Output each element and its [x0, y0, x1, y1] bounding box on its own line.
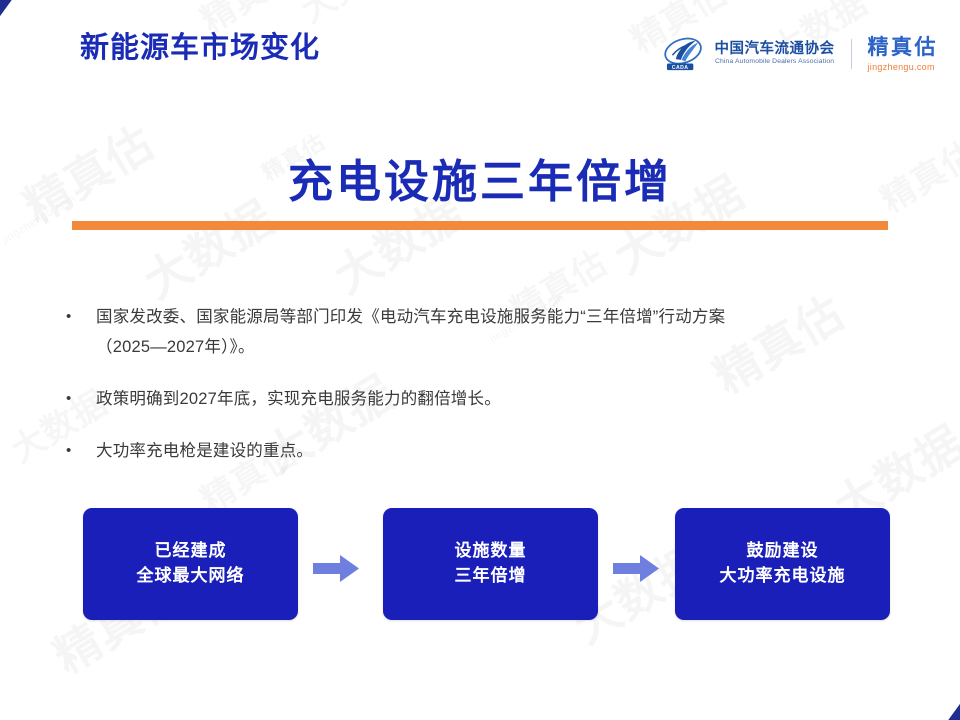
- cada-logo-text: 中国汽车流通协会 China Automobile Dealers Associ…: [715, 42, 835, 66]
- page-title: 充电设施三年倍增: [0, 145, 960, 210]
- title-underline-rule: [72, 221, 888, 230]
- list-item: • 政策明确到2027年底，实现充电服务能力的翻倍增长。: [60, 384, 910, 414]
- logo-cada: CADA 中国汽车流通协会 China Automobile Dealers A…: [664, 37, 835, 71]
- bullet-line: 大功率充电枪是建设的重点。: [96, 442, 313, 460]
- process-box-label: 已经建成 全球最大网络: [137, 539, 245, 588]
- logo-divider: [851, 39, 852, 69]
- slide-header: 新能源车市场变化 CADA 中国汽车流通协会 China Automobile: [0, 0, 960, 105]
- process-box-line1: 已经建成: [155, 541, 227, 560]
- bullet-text: 大功率充电枪是建设的重点。: [96, 436, 313, 466]
- process-box-line2: 三年倍增: [455, 566, 527, 585]
- bullet-text: 国家发改委、国家能源局等部门印发《电动汽车充电设施服务能力“三年倍增”行动方案 …: [96, 302, 725, 362]
- header-title: 新能源车市场变化: [80, 33, 320, 65]
- logo-group: CADA 中国汽车流通协会 China Automobile Dealers A…: [664, 32, 939, 76]
- logo-jingzhengu: 精真估 jingzhengu.com: [868, 37, 939, 72]
- process-box-label: 设施数量 三年倍增: [455, 539, 527, 588]
- process-diagram: 已经建成 全球最大网络 设施数量 三年倍增 鼓励建设 大功率充电设施: [0, 508, 960, 620]
- process-box-1: 已经建成 全球最大网络: [83, 508, 298, 620]
- process-box-line1: 鼓励建设: [747, 541, 819, 560]
- process-box-3: 鼓励建设 大功率充电设施: [675, 508, 890, 620]
- bullet-list: • 国家发改委、国家能源局等部门印发《电动汽车充电设施服务能力“三年倍增”行动方…: [60, 302, 910, 488]
- bullet-line: （2025—2027年）》。: [96, 332, 725, 362]
- list-item: • 国家发改委、国家能源局等部门印发《电动汽车充电设施服务能力“三年倍增”行动方…: [60, 302, 910, 362]
- bullet-marker: •: [60, 436, 96, 466]
- cada-name-en: China Automobile Dealers Association: [715, 59, 837, 66]
- cada-swoosh-icon: CADA: [664, 37, 708, 71]
- jingzhengu-url: jingzhengu.com: [868, 63, 939, 72]
- list-item: • 大功率充电枪是建设的重点。: [60, 436, 910, 466]
- bullet-line: 政策明确到2027年底，实现充电服务能力的翻倍增长。: [96, 390, 501, 408]
- slide-root: 精真估 jingzhengu.com 大数据 精真估 大数据 精真估 大数据 精…: [0, 0, 960, 720]
- svg-text:CADA: CADA: [671, 65, 688, 71]
- bullet-text: 政策明确到2027年底，实现充电服务能力的翻倍增长。: [96, 384, 501, 414]
- arrow-right-icon: [313, 555, 359, 582]
- process-box-line1: 设施数量: [455, 541, 527, 560]
- bullet-line: 国家发改委、国家能源局等部门印发《电动汽车充电设施服务能力“三年倍增”行动方案: [96, 308, 725, 326]
- process-box-2: 设施数量 三年倍增: [383, 508, 598, 620]
- bullet-marker: •: [60, 384, 96, 414]
- process-box-line2: 全球最大网络: [137, 566, 245, 585]
- jingzhengu-name-cn: 精真估: [868, 37, 939, 58]
- arrow-right-icon: [613, 555, 659, 582]
- cada-name-cn: 中国汽车流通协会: [715, 42, 835, 57]
- process-box-line2: 大功率充电设施: [720, 566, 846, 585]
- bullet-marker: •: [60, 302, 96, 332]
- process-box-label: 鼓励建设 大功率充电设施: [720, 539, 846, 588]
